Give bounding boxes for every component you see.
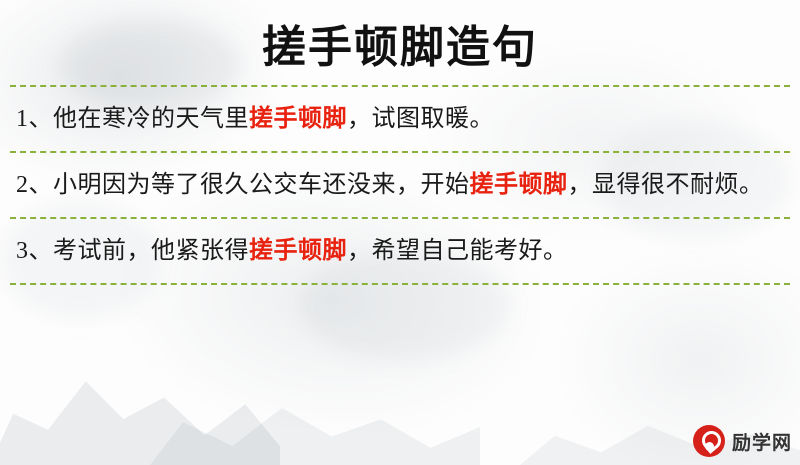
flame-circle-icon <box>693 425 725 457</box>
sentence-text-after-3: ，希望自己能考好。 <box>347 238 568 264</box>
site-watermark[interactable]: 励学网 <box>693 425 792 457</box>
sentence-item-3: 3、考试前，他紧张得搓手顿脚，希望自己能考好。 <box>0 219 800 283</box>
sentence-number-3: 3、 <box>16 238 53 264</box>
page-title: 搓手顿脚造句 <box>0 0 800 85</box>
sentence-item-2: 2、小明因为等了很久公交车还没来，开始搓手顿脚，显得很不耐烦。 <box>0 153 800 217</box>
sentence-item-1: 1、他在寒冷的天气里搓手顿脚，试图取暖。 <box>0 87 800 151</box>
sentence-text-before-3: 考试前，他紧张得 <box>53 238 249 264</box>
sentence-text-before-1: 他在寒冷的天气里 <box>53 106 249 132</box>
divider-bottom <box>10 283 790 285</box>
sentence-highlight-2: 搓手顿脚 <box>470 169 568 198</box>
sentence-text-after-1: ，试图取暖。 <box>347 106 494 132</box>
sentence-text-after-2: ，显得很不耐烦。 <box>568 172 764 198</box>
document-page: 搓手顿脚造句 1、他在寒冷的天气里搓手顿脚，试图取暖。 2、小明因为等了很久公交… <box>0 0 800 465</box>
sentence-number-2: 2、 <box>16 172 53 198</box>
mountain-silhouette-1 <box>0 330 280 465</box>
document-content: 搓手顿脚造句 1、他在寒冷的天气里搓手顿脚，试图取暖。 2、小明因为等了很久公交… <box>0 0 800 285</box>
sentence-text-before-2: 小明因为等了很久公交车还没来，开始 <box>53 172 470 198</box>
sentence-number-1: 1、 <box>16 106 53 132</box>
sentence-highlight-3: 搓手顿脚 <box>249 235 347 264</box>
mountain-silhouette-2 <box>150 370 480 465</box>
sentence-highlight-1: 搓手顿脚 <box>249 103 347 132</box>
site-watermark-label: 励学网 <box>732 428 792 455</box>
